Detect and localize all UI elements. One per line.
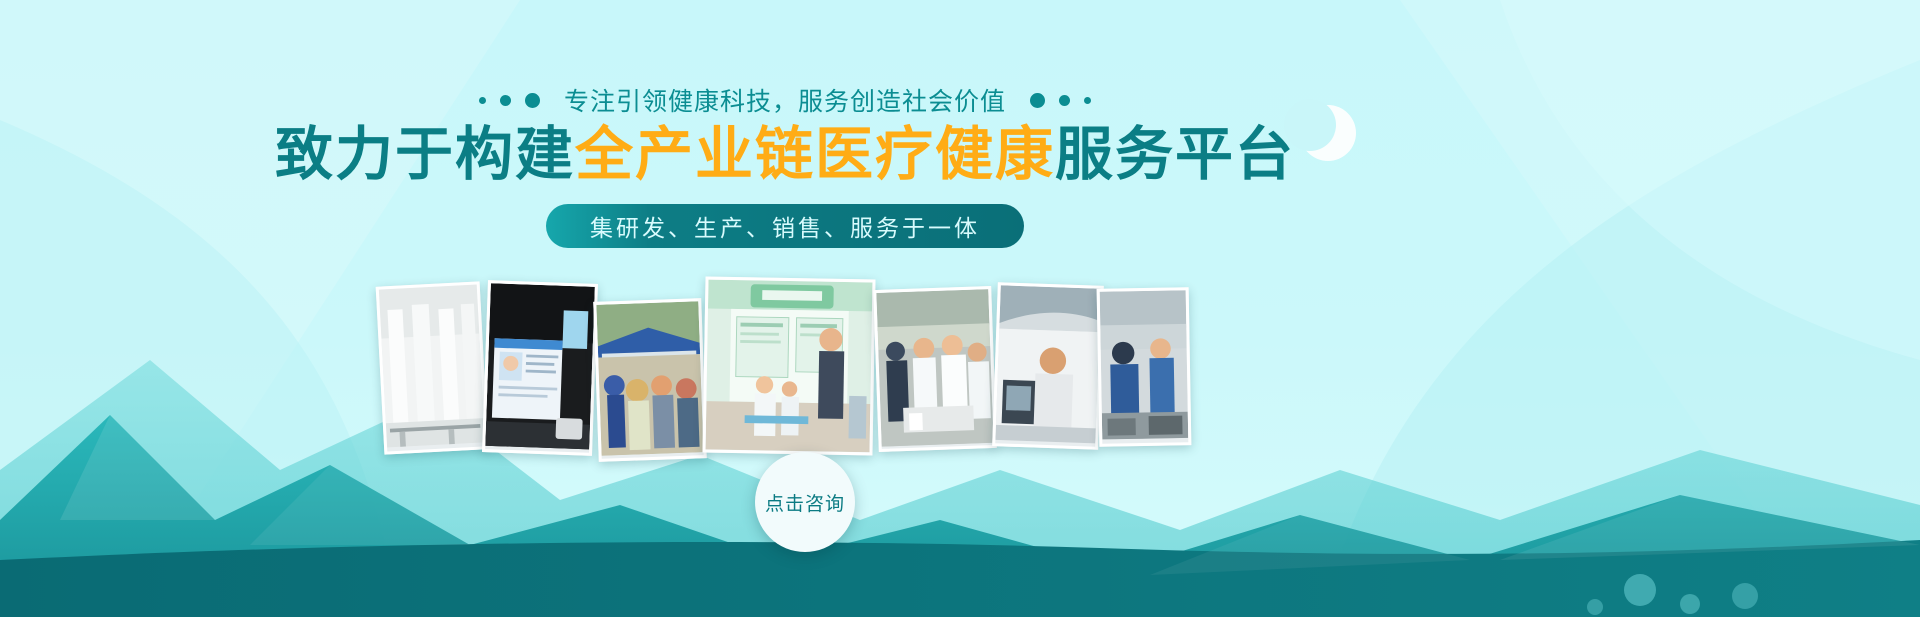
eyebrow-text: 专注引领健康科技，服务创造社会价值 bbox=[564, 82, 1006, 118]
headline-part-3: 服务平台 bbox=[1055, 122, 1295, 187]
photo-health-kiosk[interactable] bbox=[482, 280, 598, 456]
dots-left-group bbox=[479, 93, 540, 108]
photo-lab-equipment[interactable] bbox=[376, 281, 489, 454]
photo-lab-equipment-image bbox=[379, 285, 485, 448]
photo-doctors-outdoor-image bbox=[876, 289, 993, 447]
headline: 致力于构建全产业链医疗健康服务平台 bbox=[0, 122, 1570, 189]
promo-banner: 专注引领健康科技，服务创造社会价值 致力于构建全产业链医疗健康服务平台 集研发、… bbox=[0, 0, 1920, 617]
photo-outdoor-clinic[interactable] bbox=[593, 298, 707, 462]
headline-part-2: 全产业链医疗健康 bbox=[575, 122, 1055, 187]
photo-doctors-outdoor[interactable] bbox=[873, 286, 997, 452]
dot-small-icon bbox=[1084, 97, 1091, 104]
photo-technician-desk-image bbox=[995, 285, 1100, 443]
photo-assembly-line[interactable] bbox=[1097, 287, 1192, 447]
photo-technician-desk[interactable] bbox=[992, 282, 1104, 450]
dot-small-icon bbox=[479, 97, 486, 104]
eyebrow-row: 专注引领健康科技，服务创造社会价值 bbox=[0, 82, 1570, 118]
photo-assembly-line-image bbox=[1100, 290, 1189, 439]
photo-health-station[interactable] bbox=[702, 277, 875, 456]
photo-outdoor-clinic-image bbox=[596, 301, 703, 456]
dot-medium-icon bbox=[500, 95, 511, 106]
tagline-pill: 集研发、生产、销售、服务于一体 bbox=[546, 204, 1024, 248]
moon-icon bbox=[1300, 105, 1356, 161]
dot-large-icon bbox=[525, 93, 540, 108]
dot-medium-icon bbox=[1059, 95, 1070, 106]
consult-button[interactable]: 点击咨询 bbox=[755, 452, 855, 552]
headline-part-1: 致力于构建 bbox=[275, 122, 575, 187]
dot-large-icon bbox=[1030, 93, 1045, 108]
photo-health-kiosk-image bbox=[485, 283, 595, 449]
photo-health-station-image bbox=[706, 280, 873, 453]
dots-right-group bbox=[1030, 93, 1091, 108]
